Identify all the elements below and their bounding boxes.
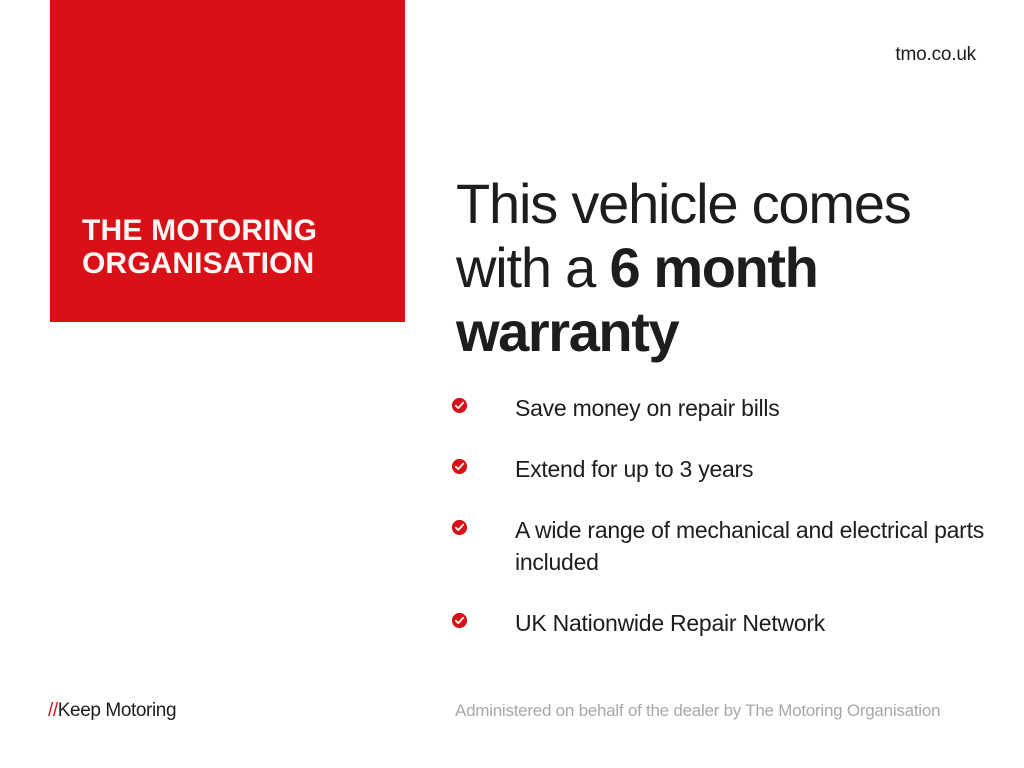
list-item-label: UK Nationwide Repair Network bbox=[515, 607, 992, 639]
list-item-label: Extend for up to 3 years bbox=[515, 453, 992, 485]
check-circle-icon bbox=[452, 613, 467, 628]
list-item-label: Save money on repair bills bbox=[515, 392, 992, 424]
check-circle-icon bbox=[452, 459, 467, 474]
list-item: UK Nationwide Repair Network bbox=[452, 607, 992, 639]
footer-tagline-label: Keep Motoring bbox=[58, 700, 176, 721]
list-item: Save money on repair bills bbox=[452, 392, 992, 424]
warranty-banner: { "brand": { "red": "#d81118", "text_dar… bbox=[0, 0, 1024, 768]
footer-tagline: //Keep Motoring bbox=[48, 700, 176, 722]
page-headline: This vehicle comes with a 6 month warran… bbox=[456, 172, 996, 364]
check-circle-icon bbox=[452, 398, 467, 413]
slashes-mark: // bbox=[48, 700, 58, 721]
footer-administered-note: Administered on behalf of the dealer by … bbox=[455, 701, 940, 721]
check-circle-icon bbox=[452, 520, 467, 535]
brand-wordmark-line2: ORGANISATION bbox=[82, 247, 382, 280]
list-item-label: A wide range of mechanical and electrica… bbox=[515, 514, 992, 578]
benefits-list: Save money on repair bills Extend for up… bbox=[452, 392, 992, 639]
brand-logo-block: THE MOTORING ORGANISATION bbox=[50, 0, 405, 322]
site-url: tmo.co.uk bbox=[895, 44, 976, 66]
list-item: Extend for up to 3 years bbox=[452, 453, 992, 485]
list-item: A wide range of mechanical and electrica… bbox=[452, 514, 992, 578]
brand-wordmark-line1: THE MOTORING bbox=[82, 214, 382, 247]
brand-wordmark: THE MOTORING ORGANISATION bbox=[82, 214, 382, 280]
